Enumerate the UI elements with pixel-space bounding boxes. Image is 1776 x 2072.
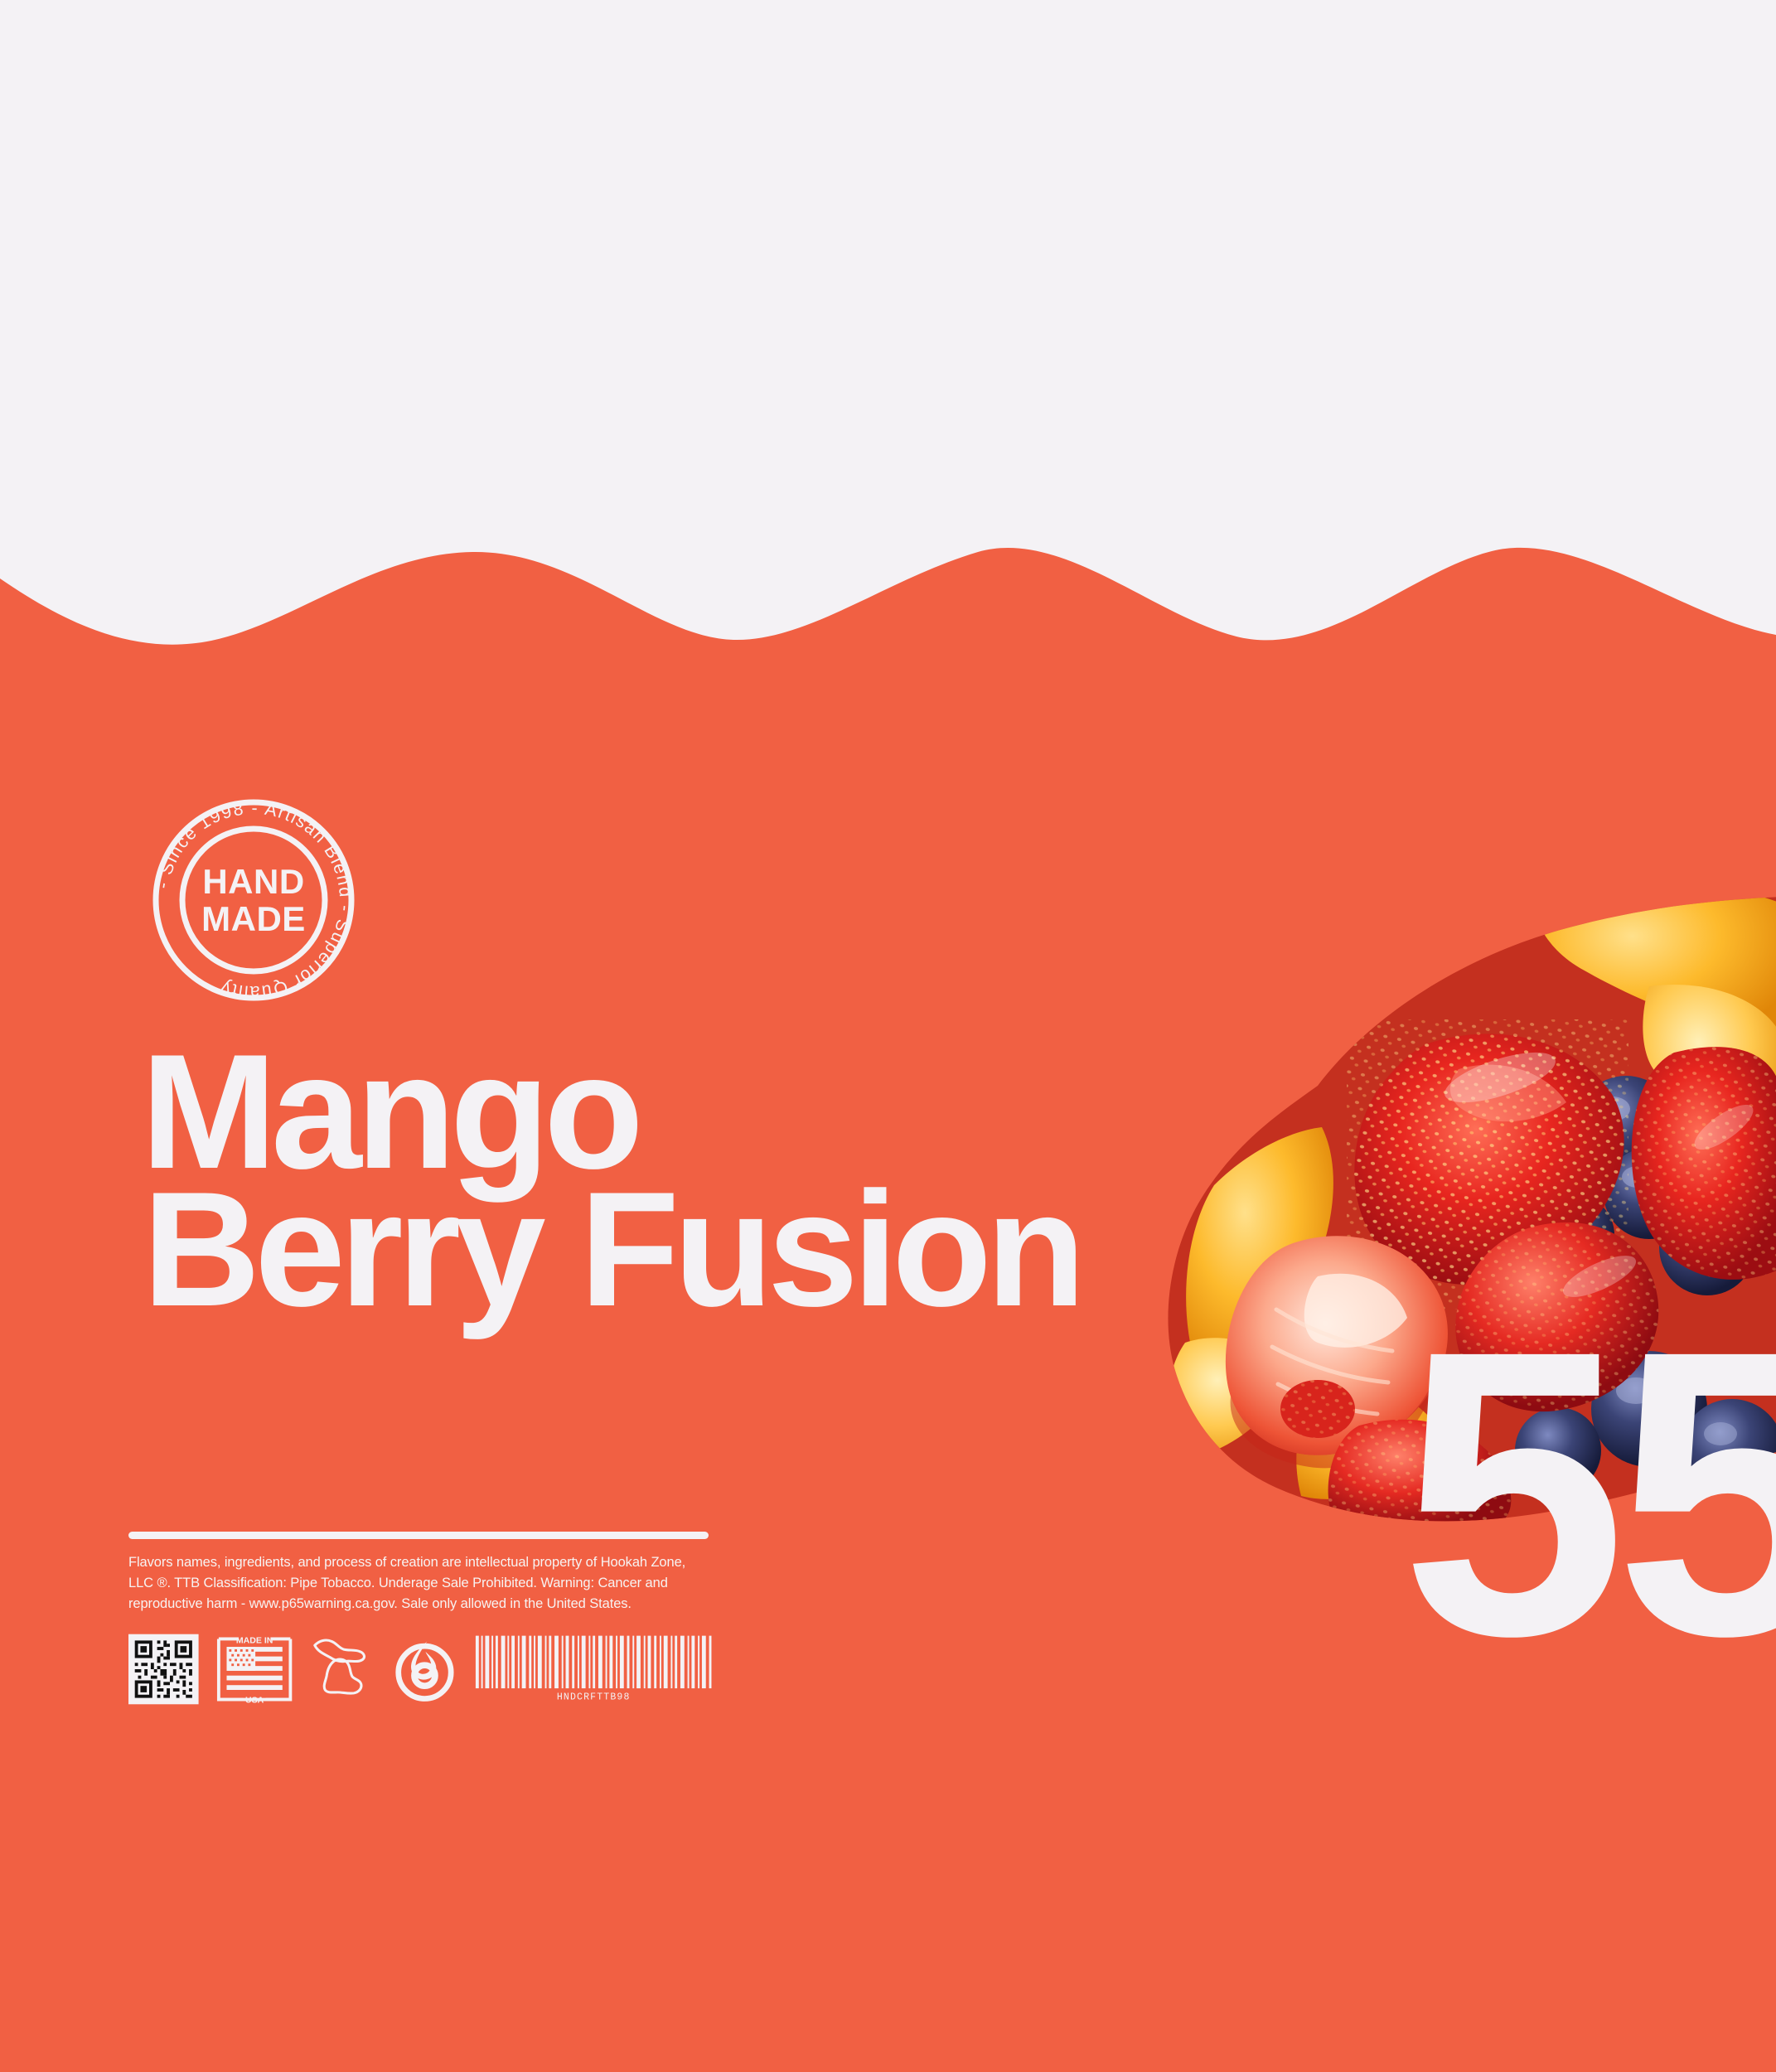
legal-text: Flavors names, ingredients, and process … (128, 1552, 709, 1615)
product-title-line-2: Berry Fusion (143, 1180, 1080, 1318)
barcode-icon: HNDCRFTTB98 (474, 1633, 713, 1706)
product-title: Mango Berry Fusion (141, 1043, 1080, 1319)
certification-icon-row: MADE IN USA (128, 1633, 713, 1709)
flame-logo-icon (393, 1633, 457, 1706)
barcode-number: HNDCRFTTB98 (556, 1692, 630, 1703)
made-in-label: MADE IN (235, 1636, 273, 1646)
qr-code-icon (128, 1633, 199, 1706)
badge-line-2: MADE (201, 899, 306, 938)
product-number: 55 (1401, 1334, 1776, 1651)
usa-label: USA (245, 1696, 264, 1706)
handmade-seal-badge: - Since 1998 - Artisan Blend - Superior … (131, 777, 376, 1023)
badge-line-1: HAND (202, 862, 304, 901)
made-in-usa-flag-icon: MADE IN USA (216, 1633, 293, 1706)
product-label-canvas: - Since 1998 - Artisan Blend - Superior … (0, 0, 1776, 2072)
michigan-state-outline-icon (310, 1633, 375, 1706)
footer-divider (128, 1532, 709, 1539)
label-footer: Flavors names, ingredients, and process … (128, 1532, 713, 1709)
